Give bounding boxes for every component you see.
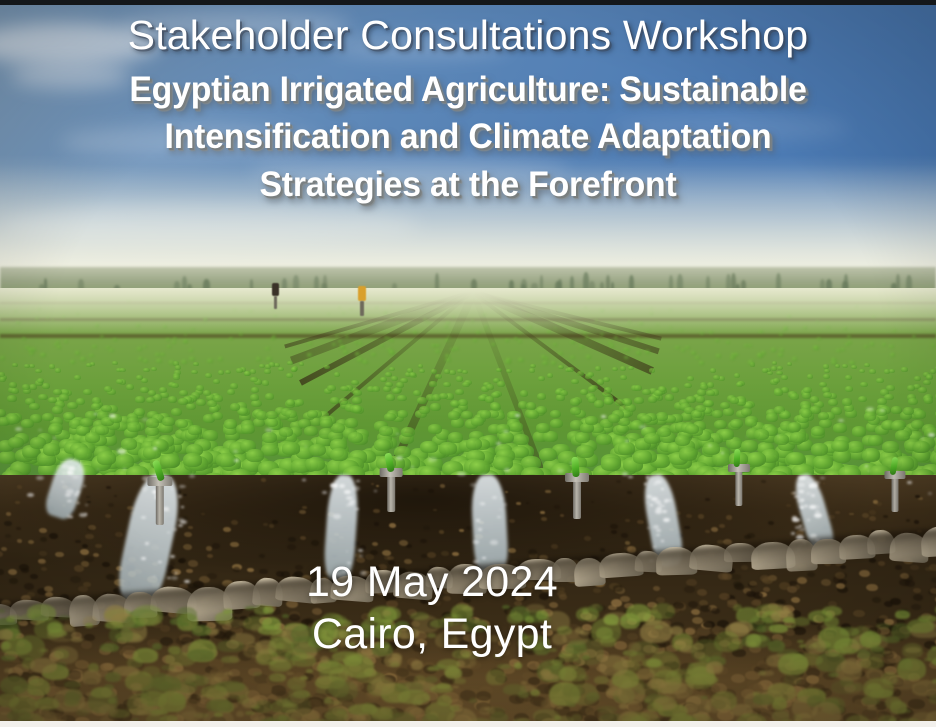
soil-clod [584, 536, 591, 541]
crop-plant [610, 344, 614, 347]
crop-plant [338, 340, 342, 343]
soil-clod [80, 549, 89, 555]
crop-plant [684, 383, 692, 389]
crop-plant [671, 387, 679, 393]
soil-clod [269, 524, 275, 528]
soil-clod [711, 527, 718, 532]
irrigation-valve [723, 449, 754, 506]
valve-riser-pipe [156, 483, 164, 525]
crop-plant [0, 377, 6, 382]
worker-torso [272, 283, 279, 296]
crop-plant [435, 344, 439, 347]
crop-plant [730, 397, 740, 404]
crop-plant [429, 381, 437, 387]
crop-plant [594, 400, 604, 407]
soil-clod [551, 544, 558, 549]
crop-plant [923, 380, 931, 385]
water-glint [809, 505, 816, 509]
crop-plant [137, 347, 142, 350]
crop-field [0, 288, 936, 483]
crop-plant [570, 341, 574, 344]
crop-plant [675, 346, 680, 349]
water-glint [396, 433, 399, 434]
crop-plant [304, 426, 318, 436]
soil-clod [428, 489, 434, 493]
irrigation-valve [560, 457, 594, 519]
crop-plant [644, 433, 659, 444]
soil-clod [914, 520, 919, 523]
crop-plant [687, 376, 694, 381]
crop-plant [539, 448, 557, 461]
water-glint [233, 450, 238, 453]
crop-plant [864, 363, 870, 367]
worker-legs [274, 296, 277, 309]
crop-plant [884, 394, 893, 401]
water-glint [504, 468, 510, 472]
soil-clod [600, 548, 606, 552]
crop-plant [695, 356, 700, 360]
water-glint [662, 510, 667, 513]
crop-plant [730, 419, 743, 428]
crop-plant [499, 432, 514, 443]
crop-plant [357, 358, 362, 362]
soil-clod [302, 506, 307, 509]
crop-plant [236, 368, 242, 373]
soil-clod [6, 512, 11, 515]
crop-plant [473, 339, 477, 342]
crop-plant [595, 366, 601, 370]
crop-plant [455, 389, 464, 395]
crop-plant [143, 359, 149, 363]
crop-plant [229, 337, 233, 340]
water-glint [67, 471, 71, 474]
crop-plant [571, 379, 578, 384]
crop-plant [513, 434, 528, 445]
crop-plant [625, 348, 630, 351]
crop-plant [714, 420, 727, 429]
crop-plant [824, 369, 830, 374]
water-glint [180, 520, 187, 524]
crop-plant [608, 414, 620, 423]
water-glint [76, 491, 80, 493]
crop-plant [454, 347, 459, 350]
crop-plant [914, 410, 926, 418]
crop-plant [409, 372, 416, 377]
water-glint [814, 513, 822, 518]
crop-plant [558, 352, 563, 356]
crop-plant [889, 369, 895, 374]
crop-plant [529, 368, 535, 373]
soil-clod [115, 532, 123, 537]
water-glint [661, 540, 664, 542]
soil-clod [263, 523, 268, 526]
crop-plant [628, 366, 634, 370]
soil-clod [768, 521, 774, 525]
crop-plant [419, 369, 425, 374]
water-glint [330, 483, 338, 488]
crop-plant [509, 422, 522, 432]
water-glint [496, 442, 501, 445]
crop-plant [340, 386, 348, 392]
crop-plant [92, 345, 96, 348]
crop-plant [339, 398, 349, 405]
crop-plant [271, 337, 275, 340]
crop-plant [604, 398, 614, 405]
crop-plant [869, 369, 875, 374]
crop-plant [251, 400, 261, 407]
water-glint [70, 516, 73, 518]
crop-plant [901, 367, 907, 371]
crop-plant [645, 350, 650, 354]
crop-plant [715, 339, 719, 342]
crop-plant [842, 364, 848, 368]
crop-plant [780, 348, 785, 351]
crop-plant [518, 340, 522, 343]
water-glint [189, 474, 195, 478]
crop-plant [497, 381, 505, 387]
water-glint [791, 532, 795, 535]
crop-plant [734, 373, 741, 378]
crop-plant [486, 384, 494, 390]
crop-plant [541, 355, 546, 359]
crop-plant [514, 337, 518, 340]
crop-plant [836, 349, 841, 352]
crop-plant [80, 418, 93, 427]
crop-plant [585, 416, 597, 425]
crop-plant [213, 395, 222, 402]
crop-plant [97, 451, 116, 465]
crop-plant [852, 426, 866, 436]
soil-clod [439, 530, 444, 534]
crop-plant [771, 348, 776, 351]
crop-plant [74, 375, 81, 380]
crop-plant [634, 397, 644, 404]
crop-plant [29, 364, 35, 368]
main-title-line-2: Intensification and Climate Adaptation [16, 113, 919, 161]
crop-plant [193, 362, 199, 366]
soil-clod [114, 495, 117, 497]
crop-plant [431, 344, 435, 347]
crop-plant [847, 335, 851, 338]
valve-riser-pipe [573, 479, 581, 519]
crop-plant [127, 422, 140, 432]
crop-plant [155, 353, 160, 357]
crop-plant [648, 396, 657, 403]
water-glint [479, 502, 485, 506]
crop-plant [227, 389, 236, 395]
crop-plant [469, 460, 490, 475]
water-glint [868, 470, 870, 471]
crop-plant [448, 411, 460, 419]
crop-plant [213, 379, 220, 384]
crop-plant [518, 358, 523, 362]
crop-plant [741, 408, 752, 416]
crop-plant [418, 364, 424, 368]
crop-plant [22, 384, 30, 390]
crop-plant [868, 435, 884, 446]
crop-plant [890, 353, 895, 357]
soil-clod [686, 514, 692, 518]
crop-plant [7, 415, 19, 424]
soil-clod [869, 510, 876, 515]
crop-plant [633, 450, 652, 464]
crop-plant [570, 398, 580, 405]
crop-plant [726, 341, 730, 344]
crop-plant [52, 406, 63, 414]
crop-plant [348, 432, 363, 443]
crop-plant [547, 373, 554, 378]
water-glint [36, 476, 44, 480]
event-location: Cairo, Egypt [0, 608, 864, 660]
water-glint [653, 483, 656, 485]
crop-plant [841, 348, 846, 351]
crop-plant [845, 375, 852, 380]
crop-plant [786, 452, 805, 466]
crop-plant [299, 362, 305, 366]
crop-plant [536, 406, 547, 414]
crop-plant [430, 403, 440, 411]
crop-plant [64, 340, 68, 343]
crop-plant [49, 364, 55, 368]
main-title-line-3: Strategies at the Forefront [16, 161, 919, 209]
crop-plant [169, 360, 175, 364]
crop-plant [428, 424, 442, 434]
crop-plant [790, 393, 799, 400]
crop-plant [216, 453, 235, 467]
crop-plant [587, 372, 594, 377]
soil-clod [85, 534, 93, 539]
valve-riser-pipe [891, 476, 898, 511]
crop-plant [491, 403, 502, 411]
crop-plant [189, 349, 194, 352]
crop-plant [307, 353, 312, 357]
crop-plant [391, 376, 398, 381]
water-glint [178, 495, 182, 498]
crop-plant [389, 350, 394, 353]
soil-clod [915, 495, 920, 498]
crop-plant [550, 410, 561, 418]
crop-plant [542, 361, 548, 365]
crop-plant [530, 364, 536, 368]
crop-plant [908, 398, 918, 405]
crop-plant [265, 393, 274, 400]
crop-plant [439, 442, 456, 454]
water-glint [234, 459, 239, 462]
crop-plant [462, 382, 470, 388]
crop-plant [307, 410, 318, 418]
crop-plant [835, 364, 841, 368]
crop-plant [576, 445, 594, 458]
water-glint [173, 528, 177, 530]
crop-plant [143, 446, 161, 459]
crop-plant [623, 399, 633, 406]
crop-plant [380, 377, 387, 382]
crop-plant [282, 442, 299, 454]
crop-plant [596, 434, 612, 445]
crop-plant [385, 382, 393, 388]
crop-plant [823, 392, 832, 398]
crop-plant [205, 373, 212, 378]
crop-plant [218, 357, 223, 361]
crop-plant [903, 407, 914, 415]
soil-clod [106, 486, 110, 489]
soil-clod [272, 520, 278, 524]
crop-plant [842, 398, 852, 405]
crop-plant [774, 434, 790, 445]
crop-plant [265, 347, 270, 350]
crop-plant [259, 364, 265, 368]
soil-clod [399, 540, 408, 546]
soil-clod [705, 498, 710, 501]
water-glint [339, 484, 345, 488]
crop-plant [183, 453, 202, 467]
crop-plant [384, 336, 388, 339]
water-glint [795, 526, 799, 529]
crop-plant [250, 394, 259, 401]
water-glint [838, 419, 844, 422]
crop-plant [882, 343, 886, 346]
crop-plant [417, 397, 427, 404]
crop-plant [777, 366, 783, 370]
crop-plant [819, 382, 827, 388]
crop-plant [43, 443, 60, 455]
soil-clod [108, 503, 114, 507]
crop-plant [449, 370, 456, 375]
main-title-line-1: Egyptian Irrigated Agriculture: Sustaina… [16, 66, 919, 114]
crop-plant [792, 357, 797, 361]
worker-torso [358, 286, 366, 301]
crop-plant [172, 341, 176, 344]
water-glint [85, 504, 88, 506]
crop-plant [685, 424, 699, 434]
crop-plant [374, 439, 391, 451]
soil-clod [17, 485, 22, 489]
crop-plant [401, 427, 415, 437]
soil-clod [87, 501, 91, 503]
crop-plant [101, 405, 112, 413]
soil-clod [5, 534, 11, 538]
water-glint [653, 546, 656, 548]
crop-plant [266, 411, 278, 419]
water-glint [809, 485, 813, 487]
water-glint [799, 528, 804, 531]
soil-clod [86, 496, 90, 499]
crop-plant [699, 361, 705, 365]
crop-plant [143, 368, 149, 373]
bottom-letterbox-bar [0, 721, 936, 727]
water-glint [358, 549, 363, 552]
crop-plant [126, 384, 134, 390]
crop-plant [766, 413, 778, 422]
soil-clod [183, 544, 192, 550]
crop-plant [83, 389, 92, 395]
crop-plant [181, 360, 187, 364]
crop-plant [924, 397, 934, 404]
soil-clod [440, 484, 445, 487]
crop-plant [848, 341, 852, 344]
crop-plant [640, 415, 652, 424]
crop-plant [324, 365, 330, 369]
crop-plant [173, 375, 180, 380]
water-glint [109, 414, 117, 418]
soil-clod [311, 540, 319, 546]
crop-plant [175, 419, 188, 428]
crop-plant [845, 386, 853, 392]
water-glint [921, 437, 924, 439]
crop-plant [286, 373, 293, 378]
crop-plant [681, 349, 686, 352]
irrigation-valve [142, 460, 178, 525]
crop-plant [396, 382, 404, 388]
field-haze [0, 288, 936, 334]
crop-plant [748, 344, 752, 347]
crop-plant [159, 387, 167, 393]
crop-plant [188, 425, 202, 435]
crop-plant [431, 369, 437, 374]
crop-plant [184, 340, 188, 343]
crop-plant [269, 362, 275, 366]
crop-plant [720, 402, 730, 409]
water-glint [646, 476, 650, 478]
soil-clod [300, 536, 306, 540]
crop-plant [505, 339, 509, 342]
crop-plant [196, 385, 204, 391]
crop-plant [57, 345, 62, 348]
soil-clod [184, 532, 192, 537]
crop-plant [864, 345, 868, 348]
crop-plant [745, 418, 758, 427]
crop-plant [603, 377, 610, 382]
soil-clod [705, 530, 710, 533]
water-glint [639, 425, 647, 429]
soil-clod [230, 542, 239, 548]
crop-plant [112, 361, 118, 365]
crop-plant [926, 375, 933, 380]
soil-clod [299, 510, 306, 514]
water-glint [15, 427, 23, 431]
crop-plant [279, 427, 293, 437]
crop-plant [891, 406, 902, 414]
crop-plant [691, 410, 702, 418]
water-glint [411, 466, 414, 468]
crop-plant [456, 376, 463, 381]
soil-clod [627, 546, 636, 552]
crop-plant [390, 339, 394, 342]
crop-plant [862, 449, 880, 462]
crop-plant [537, 393, 546, 400]
crop-plant [151, 367, 157, 371]
crop-plant [762, 368, 768, 373]
crop-plant [773, 378, 780, 383]
crop-plant [882, 441, 899, 453]
crop-plant [264, 369, 270, 374]
crop-plant [246, 449, 264, 462]
crop-plant [466, 438, 482, 450]
water-glint [798, 483, 804, 487]
crop-plant [656, 412, 668, 421]
water-glint [117, 449, 125, 454]
crop-plant [191, 370, 197, 375]
crop-plant [851, 365, 857, 369]
water-glint [167, 532, 169, 533]
valve-handle-green [571, 457, 579, 477]
soil-clod [223, 527, 231, 532]
crop-plant [526, 402, 536, 409]
crop-plant [335, 335, 339, 338]
title-block: Stakeholder Consultations Workshop Egypt… [0, 5, 936, 208]
crop-plant [480, 410, 492, 418]
soil-clod [726, 515, 733, 519]
